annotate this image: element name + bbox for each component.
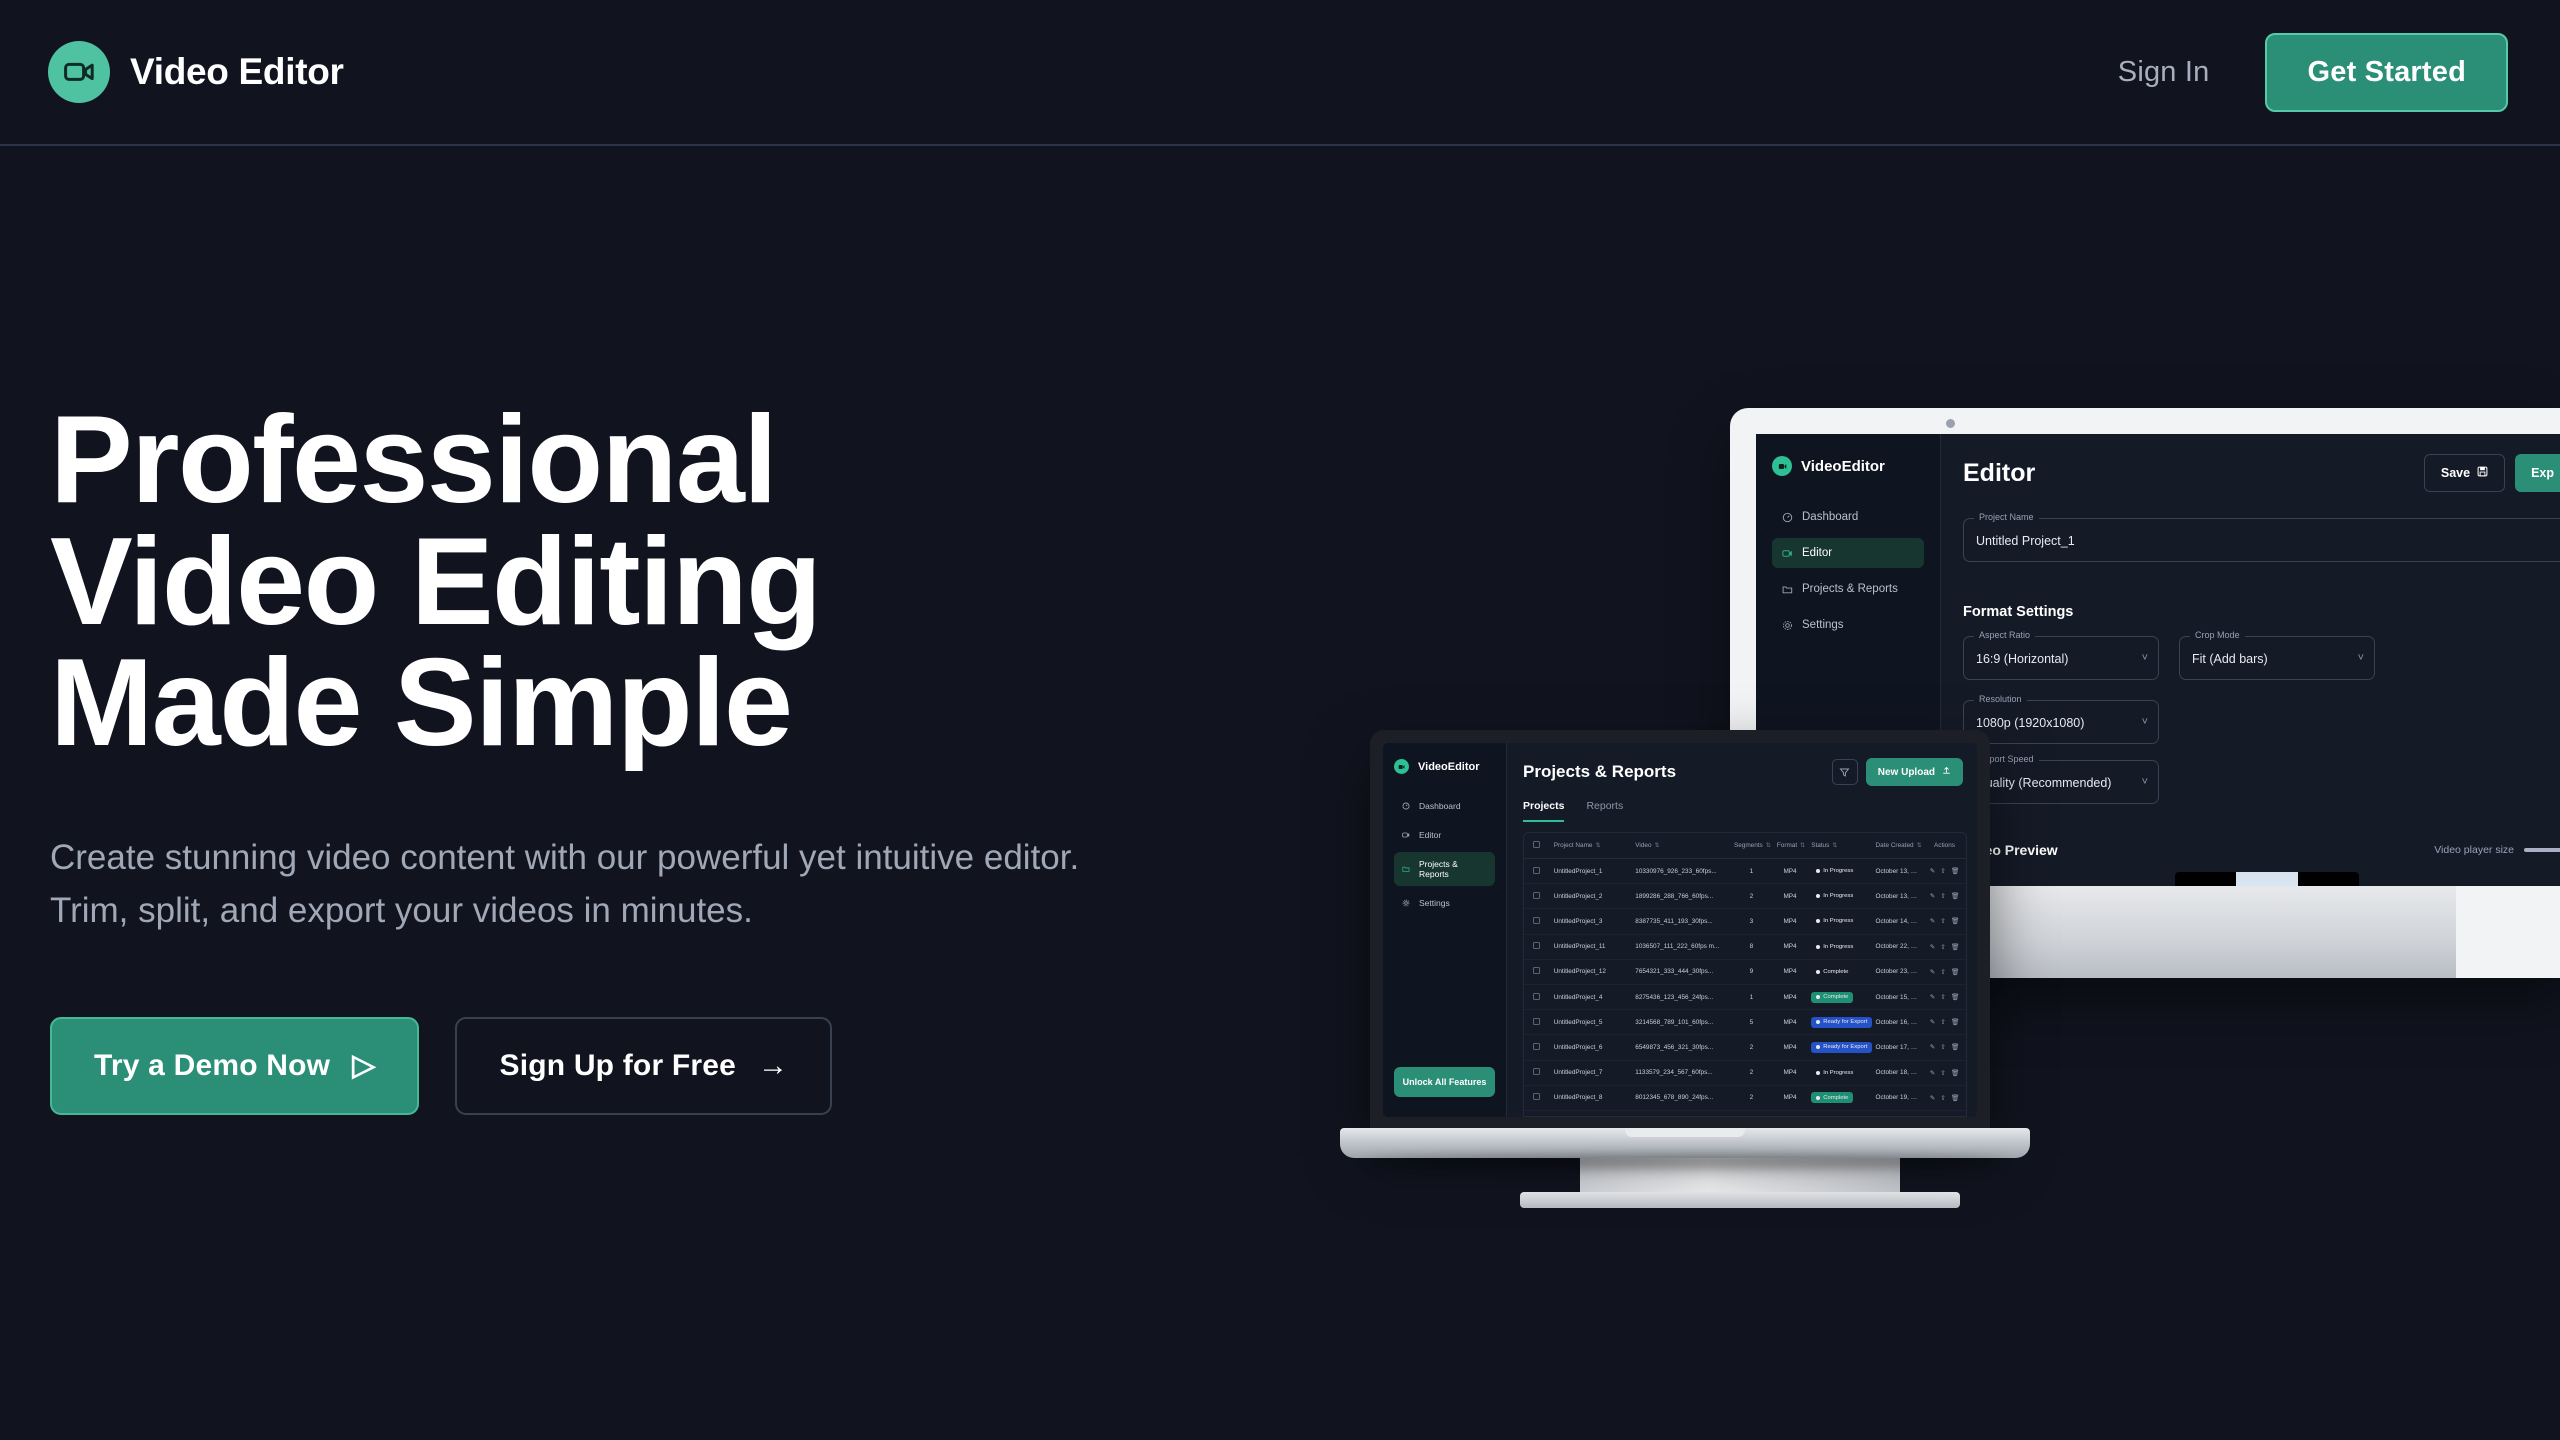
cell-date-created: October 15, 2025 [1872, 984, 1923, 1009]
status-badge: In Progress [1811, 916, 1858, 927]
editor-main: Editor Save Exp [1941, 434, 2560, 886]
cell-format: MP4 [1773, 1110, 1807, 1117]
sort-icon: ⇅ [1655, 843, 1660, 849]
project-name-label: Project Name [1974, 512, 2039, 522]
cell-format: MP4 [1773, 959, 1807, 984]
cell-segments: 2 [1730, 1035, 1773, 1060]
cell-date-created: October 22, 2025 [1872, 934, 1923, 959]
delete-icon[interactable]: 🗑 [1951, 968, 1959, 976]
cell-format: MP4 [1773, 859, 1807, 884]
cell-status: Ready for Export [1807, 1110, 1871, 1117]
delete-icon[interactable]: 🗑 [1951, 867, 1959, 875]
cell-status: In Progress [1807, 1060, 1871, 1085]
table-row[interactable]: UntitledProject_92345678_123_456_60fps..… [1524, 1110, 1966, 1117]
status-badge: Complete [1811, 1092, 1853, 1103]
header-actions: Sign In Get Started [2118, 33, 2524, 112]
cell-segments: 2 [1730, 884, 1773, 909]
sidebar-item-dashboard[interactable]: Dashboard [1772, 502, 1924, 532]
cell-status: Complete [1807, 984, 1871, 1009]
cell-date-created: October 18, 2025 [1872, 1060, 1923, 1085]
sidebar-item-label: Dashboard [1802, 511, 1858, 523]
hero-title-line-1: Professional [50, 400, 1150, 522]
checkbox-icon[interactable] [1533, 841, 1540, 848]
new-upload-button[interactable]: New Upload [1866, 758, 1963, 786]
aspect-ratio-value: 16:9 (Horizontal) [1976, 652, 2068, 666]
cell-actions: ✎⇧🗑 [1923, 959, 1966, 984]
editor-nav: Dashboard Editor Projects & Reports [1772, 502, 1924, 640]
cell-format: MP4 [1773, 1060, 1807, 1085]
delete-icon[interactable]: 🗑 [1951, 1094, 1959, 1102]
cell-actions: ✎⇧🗑 [1923, 1010, 1966, 1035]
column-video[interactable]: Video⇅ [1631, 833, 1730, 859]
cell-project-name: UntitledProject_11 [1550, 934, 1632, 959]
cell-project-name: UntitledProject_3 [1550, 909, 1632, 934]
cell-video: 1133579_234_567_60fps... [1631, 1060, 1730, 1085]
building-photo [2236, 872, 2298, 886]
projects-table: Project Name⇅ Video⇅ Segments⇅ Format⇅ S… [1524, 833, 1966, 1117]
status-dot-icon [1816, 1096, 1820, 1100]
project-name-value: Untitled Project_1 [1976, 534, 2075, 548]
sidebar-item-settings[interactable]: Settings [1394, 891, 1495, 915]
sort-icon: ⇅ [1595, 843, 1600, 849]
cell-format: MP4 [1773, 984, 1807, 1009]
checkbox-icon[interactable] [1533, 867, 1540, 874]
tab-projects[interactable]: Projects [1523, 800, 1564, 822]
resolution-value: 1080p (1920x1080) [1976, 716, 2084, 730]
cell-actions: ✎⇧🗑 [1923, 1060, 1966, 1085]
row-checkbox[interactable] [1524, 859, 1550, 884]
sidebar-item-label: Settings [1419, 898, 1450, 908]
crop-mode-select[interactable]: Crop Mode Fit (Add bars) ˅ [2179, 636, 2375, 680]
table-row[interactable]: UntitledProject_66549873_456_321_30fps..… [1524, 1035, 1966, 1060]
sidebar-item-label: Projects & Reports [1419, 859, 1487, 879]
video-player-size-label: Video player size [2434, 844, 2514, 856]
row-checkbox[interactable] [1524, 1085, 1550, 1110]
cell-date-created: October 19, 2025 [1872, 1085, 1923, 1110]
sort-icon: ⇅ [1917, 843, 1922, 849]
sidebar-item-editor[interactable]: Editor [1394, 823, 1495, 847]
sidebar-item-label: Projects & Reports [1802, 583, 1898, 595]
cell-format: MP4 [1773, 909, 1807, 934]
column-date-created[interactable]: Date Created⇅ [1872, 833, 1923, 859]
export-icon[interactable]: ⇧ [1940, 1018, 1946, 1026]
delete-icon[interactable]: 🗑 [1951, 1043, 1959, 1051]
export-icon[interactable]: ⇧ [1940, 993, 1946, 1001]
floppy-disk-icon [2477, 466, 2488, 480]
project-name-field[interactable]: Project Name Untitled Project_1 [1963, 518, 2560, 562]
cell-actions: ✎⇧🗑 [1923, 934, 1966, 959]
sort-icon: ⇅ [1832, 843, 1837, 849]
resolution-label: Resolution [1974, 694, 2027, 704]
edit-icon[interactable]: ✎ [1930, 867, 1936, 875]
cell-format: MP4 [1773, 884, 1807, 909]
cell-segments: 2 [1730, 1085, 1773, 1110]
hero-title-line-2: Video Editing [50, 522, 1150, 644]
cell-date-created: October 17, 2025 [1872, 1035, 1923, 1060]
sidebar-item-dashboard[interactable]: Dashboard [1394, 794, 1495, 818]
checkbox-icon[interactable] [1533, 1068, 1540, 1075]
status-badge: In Progress [1811, 866, 1858, 877]
status-badge: In Progress [1811, 941, 1858, 952]
cell-video: 6549873_456_321_30fps... [1631, 1035, 1730, 1060]
checkbox-icon[interactable] [1533, 1018, 1540, 1025]
cell-project-name: UntitledProject_8 [1550, 1085, 1632, 1110]
sidebar-item-label: Editor [1802, 547, 1832, 559]
video-camera-icon [1394, 759, 1409, 774]
gear-icon [1782, 620, 1793, 631]
funnel-icon[interactable] [1832, 759, 1858, 785]
crop-mode-value: Fit (Add bars) [2192, 652, 2268, 666]
cell-video: 7654321_333_444_30fps... [1631, 959, 1730, 984]
status-badge: Ready for Export [1811, 1042, 1871, 1053]
unlock-all-features-button[interactable]: Unlock All Features [1394, 1067, 1495, 1097]
delete-icon[interactable]: 🗑 [1951, 943, 1959, 951]
sidebar-item-label: Editor [1419, 830, 1441, 840]
sort-icon: ⇅ [1800, 843, 1805, 849]
upload-icon [1942, 766, 1951, 778]
sidebar-item-settings[interactable]: Settings [1772, 610, 1924, 640]
page-title: Professional Video Editing Made Simple [50, 400, 1150, 765]
status-badge: In Progress [1811, 1067, 1858, 1078]
get-started-button[interactable]: Get Started [2265, 33, 2508, 112]
laptop-notch [1637, 730, 1723, 740]
sidebar-item-editor[interactable]: Editor [1772, 538, 1924, 568]
row-checkbox[interactable] [1524, 884, 1550, 909]
cell-project-name: UntitledProject_5 [1550, 1010, 1632, 1035]
status-dot-icon [1816, 869, 1820, 873]
status-dot-icon [1816, 995, 1820, 999]
edit-icon[interactable]: ✎ [1930, 1069, 1936, 1077]
site-header: Video Editor Sign In Get Started [0, 0, 2560, 146]
status-dot-icon [1816, 970, 1820, 974]
status-dot-icon [1816, 919, 1820, 923]
cell-project-name: UntitledProject_4 [1550, 984, 1632, 1009]
aspect-ratio-select[interactable]: Aspect Ratio 16:9 (Horizontal) ˅ [1963, 636, 2159, 680]
cell-segments: 1 [1730, 984, 1773, 1009]
product-mockups: VideoEditor Dashboard Editor [1330, 380, 2560, 1320]
cell-actions: ✎⇧🗑 [1923, 859, 1966, 884]
projects-page-title: Projects & Reports [1523, 762, 1676, 782]
cell-project-name: UntitledProject_6 [1550, 1035, 1632, 1060]
cell-format: MP4 [1773, 934, 1807, 959]
aspect-ratio-label: Aspect Ratio [1974, 630, 2035, 640]
cell-date-created: October 16, 2025 [1872, 1010, 1923, 1035]
brand-logo[interactable]: Video Editor [48, 41, 344, 103]
table-row[interactable]: UntitledProject_111036507_111_222_60fps … [1524, 934, 1966, 959]
sort-icon: ⇅ [1766, 843, 1771, 849]
row-checkbox[interactable] [1524, 1110, 1550, 1117]
folder-icon [1402, 865, 1410, 873]
editor-app-logo: VideoEditor [1772, 456, 1924, 476]
cell-project-name: UntitledProject_9 [1550, 1110, 1632, 1117]
export-icon[interactable]: ⇧ [1940, 1043, 1946, 1051]
cell-project-name: UntitledProject_1 [1550, 859, 1632, 884]
status-badge: In Progress [1811, 891, 1858, 902]
export-icon[interactable]: ⇧ [1940, 892, 1946, 900]
status-badge: Complete [1811, 992, 1853, 1003]
delete-icon[interactable]: 🗑 [1951, 917, 1959, 925]
chevron-down-icon: ˅ [2142, 716, 2148, 728]
editor-topbar-actions: Save Exp [2424, 454, 2560, 492]
edit-icon[interactable]: ✎ [1930, 993, 1936, 1001]
cell-actions: ✎⇧🗑 [1923, 984, 1966, 1009]
cell-video: 8387735_411_193_30fps... [1631, 909, 1730, 934]
edit-icon[interactable]: ✎ [1930, 1043, 1936, 1051]
laptop-shadow [1366, 1156, 2006, 1168]
chevron-down-icon: ˅ [2142, 652, 2148, 664]
cell-segments: 8 [1730, 934, 1773, 959]
row-checkbox[interactable] [1524, 1035, 1550, 1060]
checkbox-icon[interactable] [1533, 1093, 1540, 1100]
row-checkbox[interactable] [1524, 934, 1550, 959]
projects-tabs: Projects Reports [1523, 800, 1977, 822]
table-row[interactable]: UntitledProject_21899286_288_766_60fps..… [1524, 884, 1966, 909]
hero-section: Professional Video Editing Made Simple C… [50, 400, 1150, 1115]
cell-status: Complete [1807, 1085, 1871, 1110]
delete-icon[interactable]: 🗑 [1951, 993, 1959, 1001]
cell-segments: 1 [1730, 859, 1773, 884]
edit-icon[interactable]: ✎ [1930, 892, 1936, 900]
chevron-down-icon: ˅ [2142, 776, 2148, 788]
column-segments[interactable]: Segments⇅ [1730, 833, 1773, 859]
cell-actions: ✎⇧🗑 [1923, 1110, 1966, 1117]
delete-icon[interactable]: 🗑 [1951, 892, 1959, 900]
sidebar-item-label: Dashboard [1419, 801, 1461, 811]
cell-video: 8012345_678_890_24fps... [1631, 1085, 1730, 1110]
cell-segments: 9 [1730, 959, 1773, 984]
brand-name: Video Editor [130, 51, 344, 93]
checkbox-icon[interactable] [1533, 1043, 1540, 1050]
projects-table-wrapper: Project Name⇅ Video⇅ Segments⇅ Format⇅ S… [1523, 832, 1967, 1117]
video-player-size-control[interactable]: Video player size [2434, 844, 2560, 856]
edit-icon[interactable]: ✎ [1930, 917, 1936, 925]
row-checkbox[interactable] [1524, 909, 1550, 934]
status-dot-icon [1816, 1071, 1820, 1075]
checkbox-icon[interactable] [1533, 942, 1540, 949]
landing-page: Video Editor Sign In Get Started Profess… [0, 0, 2560, 1440]
export-icon[interactable]: ⇧ [1940, 968, 1946, 976]
video-player: Timeline Overview [1963, 872, 2560, 886]
export-icon[interactable]: ⇧ [1940, 943, 1946, 951]
checkbox-icon[interactable] [1533, 993, 1540, 1000]
column-status[interactable]: Status⇅ [1807, 833, 1871, 859]
edit-icon[interactable]: ✎ [1930, 968, 1936, 976]
gauge-icon [1782, 512, 1793, 523]
projects-nav: Dashboard Editor Projects & Reports [1394, 794, 1495, 1067]
checkbox-icon[interactable] [1533, 892, 1540, 899]
chevron-down-icon: ˅ [2358, 652, 2364, 664]
table-row[interactable]: UntitledProject_88012345_678_890_24fps..… [1524, 1085, 1966, 1110]
column-select-all[interactable] [1524, 833, 1550, 859]
webcam-dot-icon [1946, 419, 1955, 428]
export-icon[interactable]: ⇧ [1940, 1094, 1946, 1102]
table-row[interactable]: UntitledProject_71133579_234_567_60fps..… [1524, 1060, 1966, 1085]
hero-subtitle: Create stunning video content with our p… [50, 831, 1120, 937]
table-row[interactable]: UntitledProject_110330976_926_233_60fps.… [1524, 859, 1966, 884]
cell-format: MP4 [1773, 1035, 1807, 1060]
save-label: Save [2441, 466, 2470, 480]
cell-status: Ready for Export [1807, 1035, 1871, 1060]
edit-icon[interactable]: ✎ [1930, 943, 1936, 951]
projects-sidebar: VideoEditor Dashboard Editor [1383, 743, 1507, 1117]
editor-topbar: Editor Save Exp [1963, 454, 2560, 492]
cell-status: In Progress [1807, 859, 1871, 884]
cell-date-created: October 13, 2025 [1872, 884, 1923, 909]
cell-status: In Progress [1807, 884, 1871, 909]
new-upload-label: New Upload [1878, 767, 1935, 778]
video-preview-header: Video Preview Video player size [1963, 842, 2560, 858]
status-badge: Complete [1811, 966, 1853, 977]
cell-format: MP4 [1773, 1010, 1807, 1035]
video-stage[interactable] [2175, 872, 2359, 886]
cell-video: 8275436_123_456_24fps... [1631, 984, 1730, 1009]
cell-actions: ✎⇧🗑 [1923, 884, 1966, 909]
export-button[interactable]: Exp [2515, 454, 2560, 492]
sign-in-link[interactable]: Sign In [2118, 56, 2210, 89]
cell-status: Complete [1807, 959, 1871, 984]
hero-title-line-3: Made Simple [50, 643, 1150, 765]
gear-icon [1402, 899, 1410, 907]
laptop-mockup: VideoEditor Dashboard Editor [1340, 730, 2030, 1210]
cell-video: 1036507_111_222_60fps m... [1631, 934, 1730, 959]
checkbox-icon[interactable] [1533, 967, 1540, 974]
cell-status: Ready for Export [1807, 1010, 1871, 1035]
editor-app-brand: VideoEditor [1801, 458, 1885, 475]
try-demo-button[interactable]: Try a Demo Now ▷ [50, 1017, 419, 1115]
export-icon[interactable]: ⇧ [1940, 867, 1946, 875]
column-project-name[interactable]: Project Name⇅ [1550, 833, 1632, 859]
editor-page-title: Editor [1963, 459, 2035, 488]
cell-segments: 5 [1730, 1010, 1773, 1035]
play-triangle-icon: ▷ [352, 1051, 375, 1081]
cell-segments: 3 [1730, 909, 1773, 934]
delete-icon[interactable]: 🗑 [1951, 1018, 1959, 1026]
table-header-row: Project Name⇅ Video⇅ Segments⇅ Format⇅ S… [1524, 833, 1966, 859]
cell-video: 3214568_789_101_60fps... [1631, 1010, 1730, 1035]
folder-icon [1782, 584, 1793, 595]
projects-topbar-actions: New Upload [1832, 758, 1963, 786]
status-dot-icon [1816, 1045, 1820, 1049]
try-demo-label: Try a Demo Now [94, 1049, 330, 1083]
laptop-screen: VideoEditor Dashboard Editor [1383, 743, 1977, 1117]
table-row[interactable]: UntitledProject_53214568_789_101_60fps..… [1524, 1010, 1966, 1035]
save-button[interactable]: Save [2424, 454, 2505, 492]
status-dot-icon [1816, 894, 1820, 898]
sidebar-item-label: Settings [1802, 619, 1844, 631]
video-camera-icon [48, 41, 110, 103]
cell-video: 10330976_926_233_60fps... [1631, 859, 1730, 884]
sidebar-item-projects-reports[interactable]: Projects & Reports [1394, 852, 1495, 886]
hero-cta-row: Try a Demo Now ▷ Sign Up for Free → [50, 1017, 1150, 1115]
projects-main: Projects & Reports New Upload [1507, 743, 1977, 1117]
cell-project-name: UntitledProject_2 [1550, 884, 1632, 909]
edit-icon[interactable]: ✎ [1930, 1094, 1936, 1102]
video-icon [1782, 548, 1793, 559]
cell-status: In Progress [1807, 909, 1871, 934]
status-dot-icon [1816, 945, 1820, 949]
table-row[interactable]: UntitledProject_127654321_333_444_30fps.… [1524, 959, 1966, 984]
format-settings-title: Format Settings [1963, 604, 2560, 620]
cell-segments: 2 [1730, 1060, 1773, 1085]
format-settings-grid: Aspect Ratio 16:9 (Horizontal) ˅ Crop Mo… [1963, 636, 2560, 744]
laptop-lid: VideoEditor Dashboard Editor [1370, 730, 1990, 1130]
gauge-icon [1402, 802, 1410, 810]
cell-video: 1899286_288_766_60fps... [1631, 884, 1730, 909]
projects-app-logo: VideoEditor [1394, 759, 1495, 774]
video-frame-thumbnail [2236, 872, 2298, 886]
row-checkbox[interactable] [1524, 1010, 1550, 1035]
projects-table-body: UntitledProject_110330976_926_233_60fps.… [1524, 859, 1966, 1118]
status-badge: Ready for Export [1811, 1017, 1871, 1028]
video-camera-icon [1772, 456, 1792, 476]
crop-mode-label: Crop Mode [2190, 630, 2245, 640]
sign-up-free-label: Sign Up for Free [499, 1049, 736, 1083]
row-checkbox[interactable] [1524, 984, 1550, 1009]
export-label: Exp [2531, 466, 2554, 480]
cell-actions: ✎⇧🗑 [1923, 909, 1966, 934]
checkbox-icon[interactable] [1533, 917, 1540, 924]
edit-icon[interactable]: ✎ [1930, 1018, 1936, 1026]
cell-segments: 4 [1730, 1110, 1773, 1117]
video-player-size-slider[interactable] [2524, 848, 2560, 852]
cell-status: In Progress [1807, 934, 1871, 959]
laptop-base [1340, 1128, 2030, 1158]
export-icon[interactable]: ⇧ [1940, 917, 1946, 925]
table-row[interactable]: UntitledProject_38387735_411_193_30fps..… [1524, 909, 1966, 934]
cell-project-name: UntitledProject_7 [1550, 1060, 1632, 1085]
row-checkbox[interactable] [1524, 959, 1550, 984]
cell-date-created: October 14, 2025 [1872, 909, 1923, 934]
column-actions: Actions [1923, 833, 1966, 859]
projects-app: VideoEditor Dashboard Editor [1383, 743, 1977, 1117]
export-speed-row: Export Speed Quality (Recommended) ˅ [1963, 760, 2560, 804]
table-row[interactable]: UntitledProject_48275436_123_456_24fps..… [1524, 984, 1966, 1009]
row-checkbox[interactable] [1524, 1060, 1550, 1085]
export-icon[interactable]: ⇧ [1940, 1069, 1946, 1077]
cell-date-created: October 20, 2025 [1872, 1110, 1923, 1117]
projects-app-brand: VideoEditor [1418, 761, 1480, 773]
projects-topbar: Projects & Reports New Upload [1523, 758, 1977, 786]
column-format[interactable]: Format⇅ [1773, 833, 1807, 859]
tab-reports[interactable]: Reports [1586, 800, 1623, 822]
cell-date-created: October 13, 2025 [1872, 859, 1923, 884]
cell-format: MP4 [1773, 1085, 1807, 1110]
sidebar-item-projects-reports[interactable]: Projects & Reports [1772, 574, 1924, 604]
status-dot-icon [1816, 1020, 1820, 1024]
delete-icon[interactable]: 🗑 [1951, 1069, 1959, 1077]
video-icon [1402, 831, 1410, 839]
cell-actions: ✎⇧🗑 [1923, 1085, 1966, 1110]
cell-actions: ✎⇧🗑 [1923, 1035, 1966, 1060]
arrow-right-icon: → [758, 1051, 788, 1081]
cell-video: 2345678_123_456_60fps... [1631, 1110, 1730, 1117]
cell-date-created: October 23, 2025 [1872, 959, 1923, 984]
sign-up-free-button[interactable]: Sign Up for Free → [455, 1017, 832, 1115]
cell-project-name: UntitledProject_12 [1550, 959, 1632, 984]
